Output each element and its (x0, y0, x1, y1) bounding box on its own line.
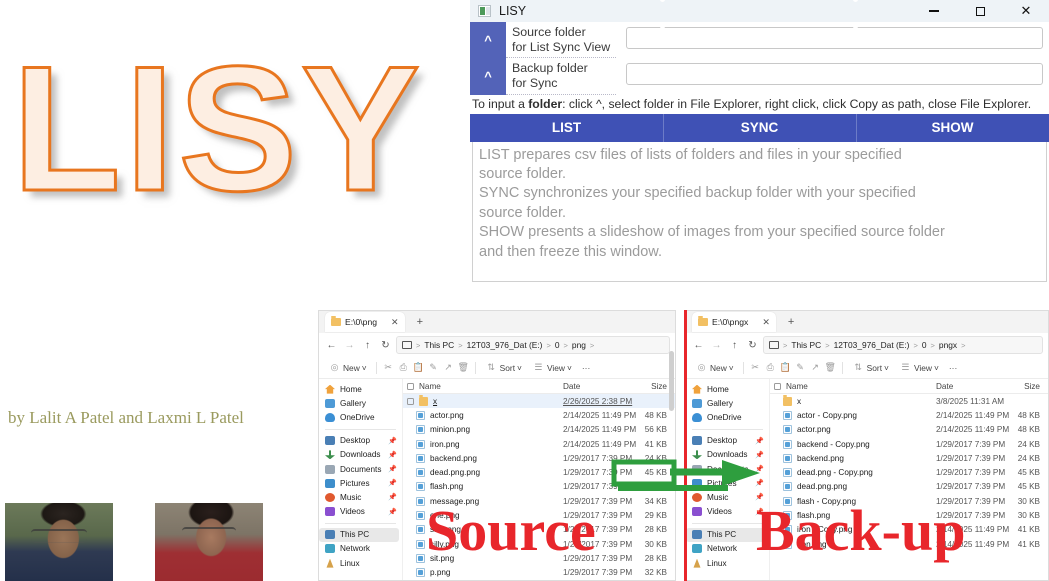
plus-circle-icon: ◎ (328, 361, 341, 374)
sidebar-item-desktop[interactable]: Desktop📌 (319, 434, 402, 448)
music-icon (692, 493, 702, 502)
breadcrumb[interactable]: > This PC > 12T03_976_Dat (E:) > 0 > png… (396, 336, 670, 354)
red-divider-line (684, 310, 687, 581)
file-date: 2/14/2025 11:49 PM (563, 440, 641, 449)
desc-line-4: source folder. (479, 204, 1040, 223)
plus-circle-icon: ◎ (695, 361, 708, 374)
sidebar-item-this-pc[interactable]: This PC (319, 528, 399, 542)
explorer-right-toolbar: ◎ New ˅ ✂ ⎙ 📋 ✎ ↗ 🗑 ⇅ Sort ˅ ☰ View ˅ ··… (686, 357, 1048, 379)
file-name: x (433, 397, 563, 406)
chevron-down-icon: ˅ (567, 363, 572, 373)
folder-icon (783, 397, 792, 406)
breadcrumb-sep: > (961, 341, 965, 350)
home-icon (325, 385, 335, 394)
sidebar-item-gallery[interactable]: Gallery (319, 396, 402, 410)
cut-icon[interactable]: ✂ (749, 361, 762, 374)
sidebar-item-label: Music (340, 493, 361, 502)
share-icon[interactable]: ↗ (442, 361, 455, 374)
file-size: 48 KB (1014, 411, 1048, 420)
delete-icon[interactable]: 🗑 (824, 361, 837, 374)
sidebar-item-label: Documents (707, 465, 748, 474)
laxmi-l-patel-photo (155, 503, 263, 581)
file-name: actor.png (797, 425, 936, 434)
png-file-icon (416, 497, 425, 506)
new-button[interactable]: ◎ New ˅ (691, 359, 738, 376)
close-icon[interactable]: ✕ (391, 317, 399, 328)
up-icon[interactable]: ↑ (727, 338, 742, 353)
backup-folder-caret-button[interactable]: ^ (470, 58, 506, 94)
tab-list[interactable]: LIST (470, 114, 663, 142)
pin-icon[interactable]: 📌 (388, 451, 397, 459)
file-row[interactable]: actor.png2/14/2025 11:49 PM48 KB (403, 408, 675, 422)
pin-icon[interactable]: 📌 (755, 479, 764, 487)
file-name: backend - Copy.png (797, 440, 936, 449)
input-instructions: To input a folder: click ^, select folde… (470, 95, 1049, 114)
row-checkbox[interactable] (407, 398, 414, 405)
breadcrumb-item-3[interactable]: png (572, 340, 586, 350)
refresh-icon[interactable]: ↻ (378, 338, 393, 353)
folder-icon (698, 318, 708, 326)
file-row[interactable]: x3/8/2025 11:31 AM (770, 394, 1048, 408)
png-file-icon (416, 554, 425, 563)
downloads-icon (325, 450, 335, 459)
lisy-logo: LISY (8, 24, 428, 234)
source-folder-input[interactable] (626, 27, 1043, 49)
close-icon[interactable]: ✕ (762, 317, 770, 328)
back-icon[interactable]: ← (691, 338, 706, 353)
chevron-down-icon: ˅ (729, 363, 734, 373)
png-file-icon (783, 468, 792, 477)
breadcrumb-item-2[interactable]: 0 (922, 340, 927, 350)
tab-sync[interactable]: SYNC (663, 114, 856, 142)
paste-icon[interactable]: 📋 (412, 361, 425, 374)
sort-icon: ⇅ (852, 361, 865, 374)
file-date: 1/29/2017 7:39 PM (563, 468, 641, 477)
explorer-right-tab-bar: E:\0\pngx ✕ + (686, 311, 1048, 333)
pin-icon[interactable]: 📌 (388, 479, 397, 487)
sidebar-item-label: Linux (707, 559, 727, 568)
folder-icon (419, 397, 428, 406)
png-file-icon (416, 468, 425, 477)
file-row[interactable]: backend - Copy.png1/29/2017 7:39 PM24 KB (770, 437, 1048, 451)
sidebar-item-label: Desktop (340, 436, 370, 445)
column-header-name[interactable]: Name (419, 382, 563, 391)
breadcrumb-sep: > (416, 341, 420, 350)
videos-icon (692, 507, 702, 516)
view-icon: ☰ (532, 361, 545, 374)
file-row[interactable]: p.png1/29/2017 7:39 PM32 KB (403, 566, 675, 580)
sort-button[interactable]: ⇅ Sort ˅ (481, 359, 526, 376)
file-date: 1/29/2017 7:39 PM (936, 454, 1014, 463)
breadcrumb-item-0[interactable]: This PC (424, 340, 454, 350)
home-icon (692, 385, 702, 394)
select-all-checkbox[interactable] (774, 383, 781, 390)
file-size: 24 KB (1014, 454, 1048, 463)
file-size: 45 KB (1014, 482, 1048, 491)
sidebar-item-pictures[interactable]: Pictures📌 (686, 476, 769, 490)
gallery-icon (325, 399, 335, 408)
backup-folder-row: ^ Backup folder for Sync (470, 58, 1049, 94)
sidebar-item-home[interactable]: Home (319, 382, 402, 396)
file-row[interactable]: actor - Copy.png2/14/2025 11:49 PM48 KB (770, 408, 1048, 422)
png-file-icon (416, 440, 425, 449)
column-header-date[interactable]: Date (563, 382, 641, 391)
sidebar-item-label: Gallery (340, 399, 366, 408)
sidebar-item-label: Network (707, 544, 737, 553)
file-size: 29 KB (641, 511, 675, 520)
file-date: 3/8/2025 11:31 AM (936, 397, 1014, 406)
file-size: 32 KB (641, 568, 675, 577)
sidebar-item-label: OneDrive (340, 413, 375, 422)
videos-icon (325, 507, 335, 516)
view-button[interactable]: ☰ View ˅ (895, 359, 943, 376)
breadcrumb-sep: > (931, 341, 935, 350)
explorer-right-address-bar: ← → ↑ ↻ > This PC > 12T03_976_Dat (E:) >… (686, 333, 1048, 357)
explorer-left-tab[interactable]: E:\0\png ✕ (325, 312, 405, 332)
lisy-description-panel: LIST prepares csv files of lists of fold… (472, 142, 1047, 282)
up-icon[interactable]: ↑ (360, 338, 375, 353)
source-folder-label: Source folder for List Sync View (506, 22, 616, 58)
sidebar-item-label: Videos (707, 507, 732, 516)
column-header-date[interactable]: Date (936, 382, 1014, 391)
close-button[interactable]: ✕ (1003, 0, 1049, 22)
column-header-size[interactable]: Size (1014, 382, 1048, 391)
file-row[interactable]: backend.png1/29/2017 7:39 PM24 KB (403, 451, 675, 465)
explorer-right-tab[interactable]: E:\0\pngx ✕ (692, 312, 776, 332)
file-date: 1/29/2017 7:39 PM (563, 568, 641, 577)
source-folder-caret-button[interactable]: ^ (470, 22, 506, 58)
file-size: 48 KB (641, 411, 675, 420)
divider (475, 362, 476, 374)
cut-icon[interactable]: ✂ (382, 361, 395, 374)
file-date: 2/14/2025 11:49 PM (563, 411, 641, 420)
breadcrumb-sep: > (590, 341, 594, 350)
file-row[interactable]: minion.png2/14/2025 11:49 PM56 KB (403, 423, 675, 437)
file-size: 30 KB (1014, 511, 1048, 520)
file-size: 24 KB (641, 454, 675, 463)
sidebar-item-onedrive[interactable]: OneDrive (319, 410, 402, 424)
pin-icon[interactable]: 📌 (388, 508, 397, 516)
sidebar-item-downloads[interactable]: Downloads📌 (686, 448, 769, 462)
new-button-label: New (710, 363, 727, 373)
file-size: 41 KB (641, 440, 675, 449)
chevron-down-icon: ˅ (934, 363, 939, 373)
file-size: 24 KB (1014, 440, 1048, 449)
file-size: 56 KB (641, 425, 675, 434)
file-date: 1/29/2017 7:39 PM (936, 440, 1014, 449)
file-size: 30 KB (1014, 497, 1048, 506)
file-name: dead.png.png (430, 468, 563, 477)
file-row[interactable]: dead.png - Copy.png1/29/2017 7:39 PM45 K… (770, 465, 1048, 479)
breadcrumb-sep: > (825, 341, 829, 350)
breadcrumb-sep: > (783, 341, 787, 350)
file-row[interactable]: backend.png1/29/2017 7:39 PM24 KB (770, 451, 1048, 465)
sort-icon: ⇅ (485, 361, 498, 374)
scrollbar[interactable] (669, 379, 674, 411)
file-date: 1/29/2017 7:39 PM (936, 482, 1014, 491)
breadcrumb-item-1[interactable]: 12T03_976_Dat (E:) (467, 340, 543, 350)
view-button[interactable]: ☰ View ˅ (528, 359, 576, 376)
file-name: iron.png (430, 440, 563, 449)
sidebar-item-documents[interactable]: Documents📌 (686, 462, 769, 476)
gallery-icon (692, 399, 702, 408)
explorer-right-tab-title: E:\0\pngx (712, 317, 748, 327)
png-file-icon (416, 525, 425, 534)
chevron-down-icon: ˅ (884, 363, 889, 373)
file-date: 2/14/2025 11:49 PM (563, 425, 641, 434)
sidebar-item-label: Downloads (340, 450, 381, 459)
file-row[interactable]: actor.png2/14/2025 11:49 PM48 KB (770, 423, 1048, 437)
forward-icon[interactable]: → (709, 338, 724, 353)
rename-icon[interactable]: ✎ (427, 361, 440, 374)
file-list-header: Name Date Size (770, 379, 1048, 394)
pin-icon[interactable]: 📌 (755, 437, 764, 445)
explorer-left-toolbar: ◎ New ˅ ✂ ⎙ 📋 ✎ ↗ 🗑 ⇅ Sort ˅ ☰ View ˅ ··… (319, 357, 675, 379)
sidebar-item-label: Gallery (707, 399, 733, 408)
sidebar-item-label: Home (340, 385, 362, 394)
lisy-window-title: LISY (499, 4, 526, 18)
select-all-checkbox[interactable] (407, 383, 414, 390)
file-size: 30 KB (641, 482, 675, 491)
divider (376, 362, 377, 374)
pictures-icon (325, 479, 335, 488)
sidebar-item-linux[interactable]: Linux (319, 556, 402, 570)
this-pc-icon (769, 341, 779, 349)
more-options-button[interactable]: ··· (945, 361, 961, 375)
backup-folder-input[interactable] (626, 63, 1043, 85)
file-size: 28 KB (641, 525, 675, 534)
breadcrumb-sep: > (458, 341, 462, 350)
backup-annotation-label: Back-up (756, 502, 966, 560)
file-name: x (797, 397, 936, 406)
backup-folder-label-line1: Backup folder (512, 61, 616, 76)
backup-folder-label-line2: for Sync (512, 76, 616, 91)
this-pc-icon (692, 530, 702, 539)
divider (325, 429, 396, 430)
back-icon[interactable]: ← (324, 338, 339, 353)
file-date: 2/14/2025 11:49 PM (936, 411, 1014, 420)
desc-line-1: LIST prepares csv files of lists of fold… (479, 146, 1040, 165)
sidebar-item-network[interactable]: Network (319, 542, 402, 556)
png-file-icon (416, 425, 425, 434)
png-file-icon (783, 440, 792, 449)
png-file-icon (416, 511, 425, 520)
divider (842, 362, 843, 374)
lisy-title-bar: LISY ✕ (470, 0, 1049, 22)
file-date: 1/29/2017 7:39 PM (563, 482, 641, 491)
sidebar-item-pictures[interactable]: Pictures📌 (319, 476, 402, 490)
sidebar-item-label: Videos (340, 507, 365, 516)
breadcrumb-sep: > (913, 341, 917, 350)
sidebar-item-label: Documents (340, 465, 381, 474)
file-name: actor.png (430, 411, 563, 420)
file-size: 41 KB (1014, 540, 1048, 549)
onedrive-icon (325, 413, 335, 422)
documents-icon (325, 465, 335, 474)
delete-icon[interactable]: 🗑 (457, 361, 470, 374)
sort-button-label: Sort (867, 363, 882, 373)
breadcrumb-item-3[interactable]: pngx (939, 340, 957, 350)
sidebar-item-label: Home (707, 385, 729, 394)
sidebar-item-label: Music (707, 493, 728, 502)
lisy-action-tabs: LIST SYNC SHOW (470, 114, 1049, 142)
file-name: backend.png (797, 454, 936, 463)
view-button-label: View (547, 363, 565, 373)
sort-button[interactable]: ⇅ Sort ˅ (848, 359, 893, 376)
network-icon (325, 544, 335, 553)
byline: by Lalit A Patel and Laxmi L Patel (8, 408, 244, 428)
file-size: 45 KB (641, 468, 675, 477)
lisy-app-window: LISY ✕ ^ Source folder for List Sync Vie… (470, 0, 1049, 300)
rename-icon[interactable]: ✎ (794, 361, 807, 374)
file-row[interactable]: flash.png1/29/2017 7:39 PM30 KB (403, 480, 675, 494)
linux-icon (325, 559, 335, 568)
explorer-left-sidebar: HomeGalleryOneDriveDesktop📌Downloads📌Doc… (319, 379, 403, 581)
lisy-app-icon (478, 5, 491, 17)
sidebar-item-label: OneDrive (707, 413, 742, 422)
forward-icon[interactable]: → (342, 338, 357, 353)
breadcrumb-item-2[interactable]: 0 (555, 340, 560, 350)
source-folder-label-line2: for List Sync View (512, 40, 616, 55)
sidebar-item-label: Pictures (340, 479, 370, 488)
chevron-down-icon: ˅ (517, 363, 522, 373)
this-pc-icon (402, 341, 412, 349)
desc-line-3: SYNC synchronizes your specified backup … (479, 184, 1040, 203)
sidebar-item-label: Desktop (707, 436, 737, 445)
file-date: 2/26/2025 2:38 PM (563, 397, 641, 406)
divider (325, 523, 396, 524)
sidebar-item-label: Downloads (707, 450, 748, 459)
sidebar-item-this-pc[interactable]: This PC (686, 528, 766, 542)
png-file-icon (416, 411, 425, 420)
lalit-a-patel-photo (5, 503, 113, 581)
file-name: backend.png (430, 454, 563, 463)
breadcrumb-sep: > (564, 341, 568, 350)
file-size: 45 KB (1014, 468, 1048, 477)
file-size: 48 KB (1014, 425, 1048, 434)
new-button-label: New (343, 363, 360, 373)
downloads-icon (692, 450, 702, 459)
divider (692, 429, 763, 430)
file-size: 34 KB (641, 497, 675, 506)
paste-icon[interactable]: 📋 (779, 361, 792, 374)
breadcrumb-item-0[interactable]: This PC (791, 340, 821, 350)
pictures-icon (692, 479, 702, 488)
file-row[interactable]: dead.png.png1/29/2017 7:39 PM45 KB (403, 465, 675, 479)
copy-icon[interactable]: ⎙ (397, 361, 410, 374)
file-row[interactable]: dead.png.png1/29/2017 7:39 PM45 KB (770, 480, 1048, 494)
file-name: flash.png (430, 482, 563, 491)
file-size: 41 KB (1014, 525, 1048, 534)
new-button[interactable]: ◎ New ˅ (324, 359, 371, 376)
file-name: dead.png.png (797, 482, 936, 491)
network-icon (692, 544, 702, 553)
breadcrumb-item-1[interactable]: 12T03_976_Dat (E:) (834, 340, 910, 350)
pin-icon[interactable]: 📌 (388, 437, 397, 445)
view-button-label: View (914, 363, 932, 373)
sidebar-item-downloads[interactable]: Downloads📌 (319, 448, 402, 462)
maximize-button[interactable] (957, 0, 1003, 22)
folder-icon (331, 318, 341, 326)
more-options-button[interactable]: ··· (578, 361, 594, 375)
explorer-left-address-bar: ← → ↑ ↻ > This PC > 12T03_976_Dat (E:) >… (319, 333, 675, 357)
sidebar-item-videos[interactable]: Videos📌 (319, 505, 402, 519)
file-date: 1/29/2017 7:39 PM (936, 468, 1014, 477)
linux-icon (692, 559, 702, 568)
png-file-icon (416, 568, 425, 577)
copy-icon[interactable]: ⎙ (764, 361, 777, 374)
sidebar-item-label: This PC (707, 530, 736, 539)
pin-icon[interactable]: 📌 (388, 465, 397, 473)
chevron-down-icon: ˅ (362, 363, 367, 373)
explorer-left-tab-bar: E:\0\png ✕ + (319, 311, 675, 333)
breadcrumb-sep: > (546, 341, 550, 350)
tab-show[interactable]: SHOW (856, 114, 1049, 142)
png-file-icon (416, 482, 425, 491)
divider (692, 523, 763, 524)
pin-icon[interactable]: 📌 (755, 465, 764, 473)
documents-icon (692, 465, 702, 474)
source-folder-row: ^ Source folder for List Sync View (470, 22, 1049, 58)
png-file-icon (783, 411, 792, 420)
source-folder-label-line1: Source folder (512, 25, 616, 40)
desc-line-6: and then freeze this window. (479, 243, 1040, 262)
file-name: actor - Copy.png (797, 411, 936, 420)
file-row[interactable]: iron.png2/14/2025 11:49 PM41 KB (403, 437, 675, 451)
pin-icon[interactable]: 📌 (388, 493, 397, 501)
png-file-icon (416, 454, 425, 463)
png-file-icon (783, 454, 792, 463)
new-tab-icon[interactable]: + (417, 316, 423, 328)
file-row[interactable]: x2/26/2025 2:38 PM (403, 394, 675, 408)
sidebar-item-label: Pictures (707, 479, 737, 488)
explorer-left-tab-title: E:\0\png (345, 317, 377, 327)
onedrive-icon (692, 413, 702, 422)
column-header-name[interactable]: Name (786, 382, 936, 391)
share-icon[interactable]: ↗ (809, 361, 822, 374)
sidebar-item-music[interactable]: Music📌 (319, 490, 402, 504)
breadcrumb[interactable]: > This PC > 12T03_976_Dat (E:) > 0 > png… (763, 336, 1043, 354)
refresh-icon[interactable]: ↻ (745, 338, 760, 353)
sidebar-item-gallery[interactable]: Gallery (686, 396, 769, 410)
sidebar-item-onedrive[interactable]: OneDrive (686, 410, 769, 424)
view-icon: ☰ (899, 361, 912, 374)
file-date: 1/29/2017 7:39 PM (563, 454, 641, 463)
png-file-icon (783, 482, 792, 491)
backup-folder-label: Backup folder for Sync (506, 58, 616, 94)
png-file-icon (416, 540, 425, 549)
file-name: p.png (430, 568, 563, 577)
sidebar-item-desktop[interactable]: Desktop📌 (686, 434, 769, 448)
divider (743, 362, 744, 374)
sidebar-item-documents[interactable]: Documents📌 (319, 462, 402, 476)
file-name: minion.png (430, 425, 563, 434)
pin-icon[interactable]: 📌 (755, 451, 764, 459)
new-tab-icon[interactable]: + (788, 316, 794, 328)
desktop-icon (692, 436, 702, 445)
desktop-icon (325, 436, 335, 445)
sidebar-item-label: Network (340, 544, 370, 553)
file-list-header: Name Date Size (403, 379, 675, 394)
music-icon (325, 493, 335, 502)
minimize-button[interactable] (911, 0, 957, 22)
this-pc-icon (325, 530, 335, 539)
png-file-icon (783, 425, 792, 434)
sidebar-item-label: Linux (340, 559, 360, 568)
sidebar-item-home[interactable]: Home (686, 382, 769, 396)
file-name: dead.png - Copy.png (797, 468, 936, 477)
file-size: 28 KB (641, 554, 675, 563)
